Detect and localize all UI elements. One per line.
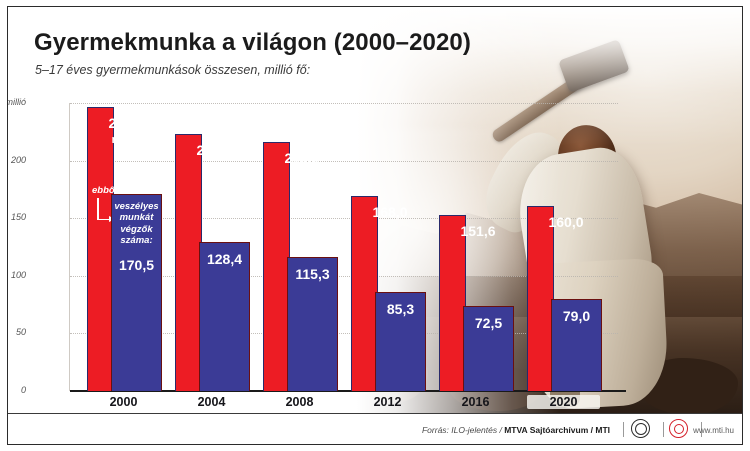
footer-separator bbox=[623, 422, 624, 437]
bar-value-label-total: 160,0 bbox=[529, 214, 603, 230]
page-title: Gyermekmunka a világon (2000–2020) bbox=[34, 29, 471, 57]
bar-total[interactable]: 245,5millióebből: bbox=[87, 107, 114, 391]
bar-total[interactable]: 222,3 bbox=[175, 134, 202, 391]
y-axis-tick-label: 50 bbox=[16, 327, 26, 337]
y-axis-tick-label: 100 bbox=[11, 270, 26, 280]
bar-hazardous[interactable]: 170,5veszélyes munkát végzők száma: bbox=[111, 194, 162, 391]
y-axis-tick-label: 250 millió bbox=[7, 97, 26, 107]
bar-value-label-total: 151,6 bbox=[441, 223, 515, 239]
bar-value-label-hazardous: 85,3 bbox=[376, 301, 425, 317]
footer-separator bbox=[663, 422, 664, 437]
x-axis-tick-label: 2012 bbox=[351, 395, 424, 409]
bar-total[interactable]: 215,2 bbox=[263, 142, 290, 391]
annotation-description: veszélyes munkát végzők száma: bbox=[114, 201, 159, 247]
bar-hazardous[interactable]: 79,0 bbox=[551, 299, 602, 391]
bar-unit-label: millió bbox=[89, 134, 163, 146]
x-axis-tick-label: 2020 bbox=[527, 395, 600, 409]
page-subtitle: 5–17 éves gyermekmunkások összesen, mill… bbox=[35, 63, 310, 77]
bar-group: 160,079,02020 bbox=[527, 103, 603, 391]
bar-group: 222,3128,42004 bbox=[175, 103, 251, 391]
bar-value-label-total: 222,3 bbox=[177, 142, 251, 158]
x-axis-tick-label: 2008 bbox=[263, 395, 336, 409]
x-axis-tick-label: 2004 bbox=[175, 395, 248, 409]
bar-total[interactable]: 151,6 bbox=[439, 215, 466, 391]
bar-hazardous[interactable]: 85,3 bbox=[375, 292, 426, 391]
website-url[interactable]: www.mti.hu bbox=[693, 426, 734, 435]
bar-group: 168,085,32012 bbox=[351, 103, 427, 391]
bar-hazardous[interactable]: 128,4 bbox=[199, 242, 250, 391]
bar-total[interactable]: 160,0 bbox=[527, 206, 554, 391]
y-axis-tick-label: 150 bbox=[11, 212, 26, 222]
infographic-card: Gyermekmunka a világon (2000–2020) 5–17 … bbox=[7, 6, 743, 445]
mti-logo-icon bbox=[669, 419, 688, 438]
y-axis-tick-label: 0 bbox=[21, 385, 26, 395]
x-axis-tick-label: 2016 bbox=[439, 395, 512, 409]
source-credit: Forrás: ILO-jelentés / MTVA Sajtóarchívu… bbox=[422, 425, 610, 435]
bar-value-label-total: 215,2 bbox=[265, 150, 339, 166]
annotation-arrow-icon bbox=[97, 198, 99, 220]
y-axis-tick-label: 200 bbox=[11, 155, 26, 165]
bar-value-label-total: 168,0 bbox=[353, 204, 427, 220]
source-prefix: Forrás: ILO-jelentés / bbox=[422, 425, 502, 435]
x-axis-tick-label: 2000 bbox=[87, 395, 160, 409]
bar-total[interactable]: 168,0 bbox=[351, 196, 378, 391]
bar-hazardous[interactable]: 115,3 bbox=[287, 257, 338, 391]
bar-value-label-hazardous: 79,0 bbox=[552, 308, 601, 324]
bar-group: 215,2115,32008 bbox=[263, 103, 339, 391]
bar-value-label-hazardous: 115,3 bbox=[288, 266, 337, 282]
source-organisation: MTVA Sajtóarchívum / MTI bbox=[504, 425, 610, 435]
mtva-logo-icon bbox=[631, 419, 650, 438]
bar-hazardous[interactable]: 72,5 bbox=[463, 306, 514, 391]
footer-bar: Forrás: ILO-jelentés / MTVA Sajtóarchívu… bbox=[8, 413, 742, 444]
bar-value-label-total: 245,5 bbox=[89, 115, 163, 131]
bar-value-label-hazardous: 128,4 bbox=[200, 251, 249, 267]
chart-plot-area: 050100150200250 millió245,5millióebből:1… bbox=[70, 103, 630, 391]
bar-group: 245,5millióebből:170,5veszélyes munkát v… bbox=[87, 103, 163, 391]
infographic-frame: Gyermekmunka a világon (2000–2020) 5–17 … bbox=[0, 0, 750, 451]
bar-value-label-hazardous: 170,5 bbox=[112, 257, 161, 273]
bar-value-label-hazardous: 72,5 bbox=[464, 315, 513, 331]
bar-group: 151,672,52016 bbox=[439, 103, 515, 391]
